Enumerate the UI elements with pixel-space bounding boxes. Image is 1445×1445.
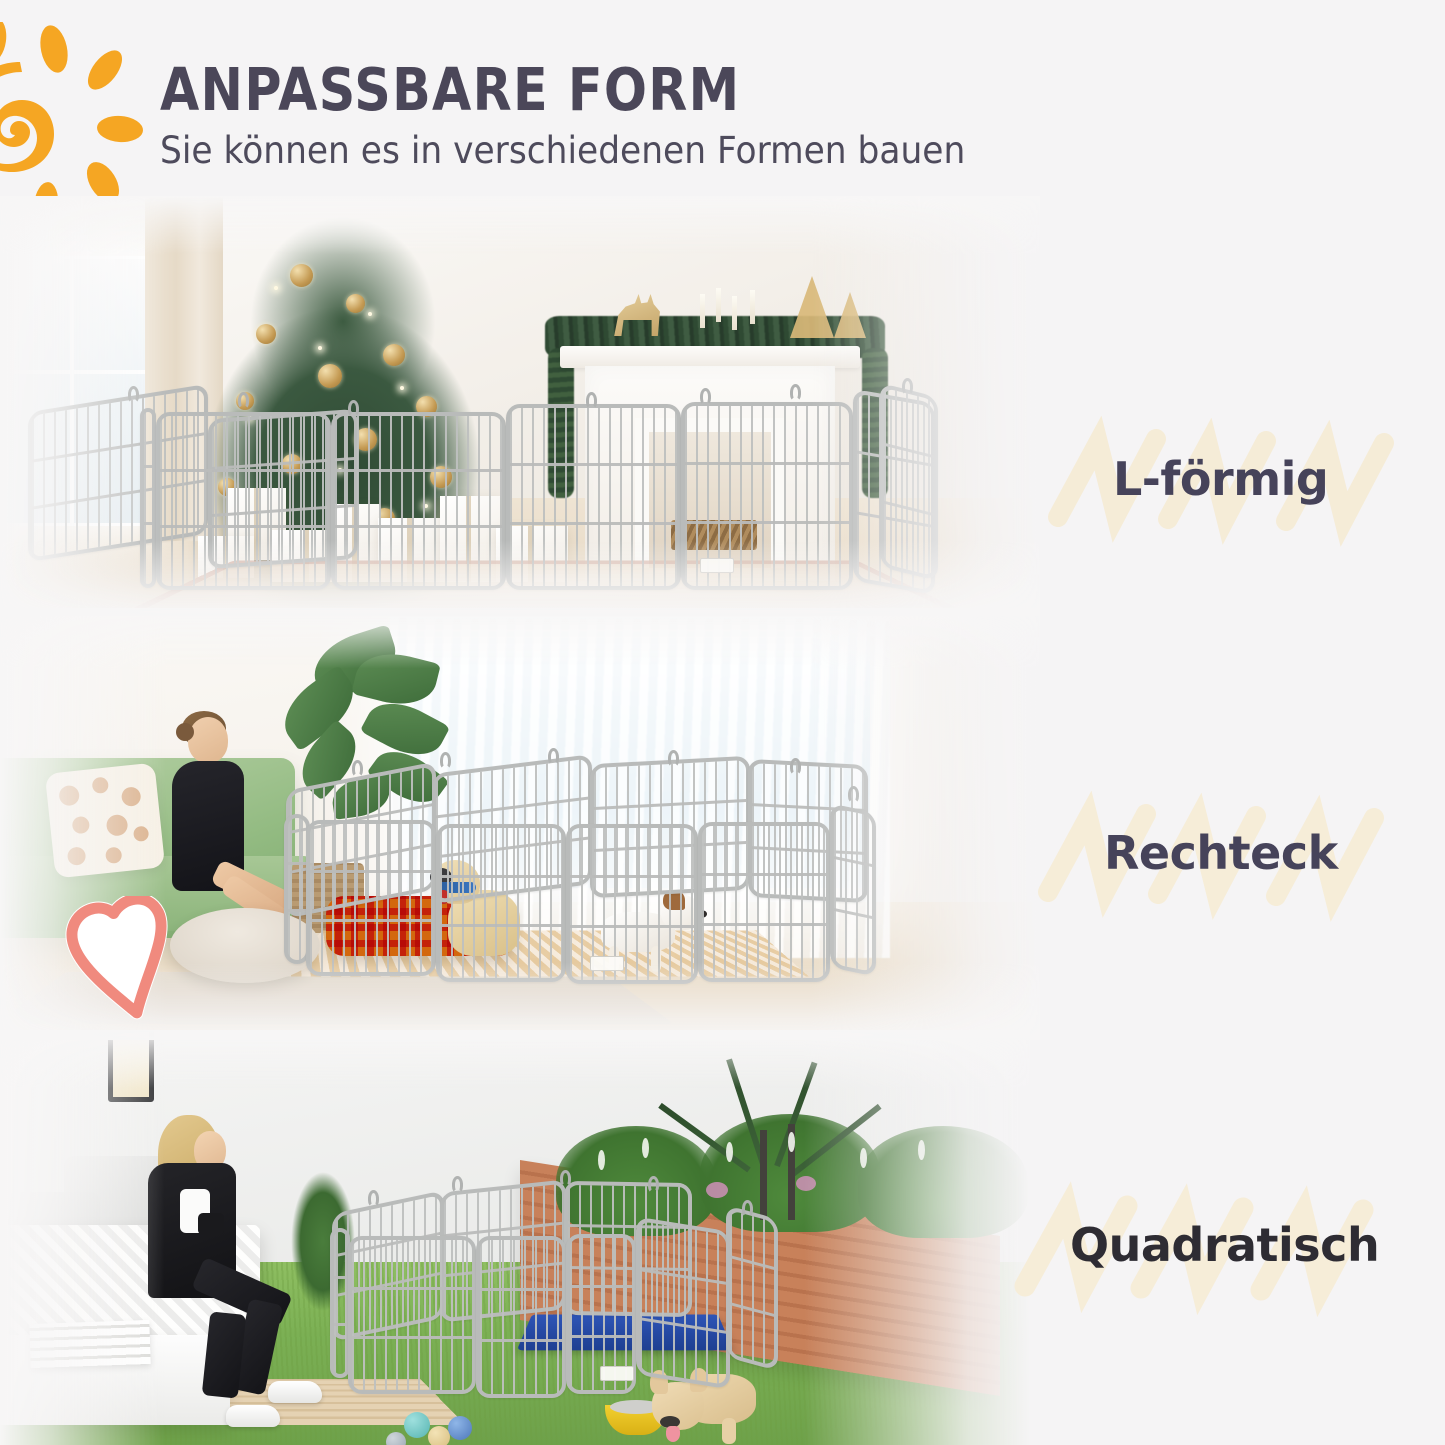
page-subtitle: Sie können es in verschiedenen Formen ba… — [160, 129, 965, 172]
page-title: ANPASSBARE FORM — [160, 60, 905, 120]
brand-tag — [600, 1366, 634, 1381]
header: ANPASSBARE FORM Sie können es in verschi… — [0, 0, 1445, 205]
shape-label-rectangle: Rechteck — [1104, 826, 1338, 880]
shape-row-l — [0, 196, 1445, 616]
brand-tag — [590, 956, 624, 971]
brand-tag — [700, 558, 734, 573]
title-block: ANPASSBARE FORM Sie können es in verschi… — [160, 60, 1026, 172]
photo-l-shape — [0, 196, 1040, 616]
photo-square — [0, 1030, 1030, 1445]
pet-playpen-l-shape — [0, 196, 1040, 616]
pet-playpen-square — [0, 1030, 1030, 1445]
shape-label-square: Quadratisch — [1070, 1218, 1379, 1272]
shape-label-l: L-förmig — [1113, 452, 1328, 506]
heart-sticker — [62, 896, 190, 1028]
sun-spiral-icon — [0, 22, 148, 212]
shape-row-rectangle — [0, 608, 1445, 1040]
